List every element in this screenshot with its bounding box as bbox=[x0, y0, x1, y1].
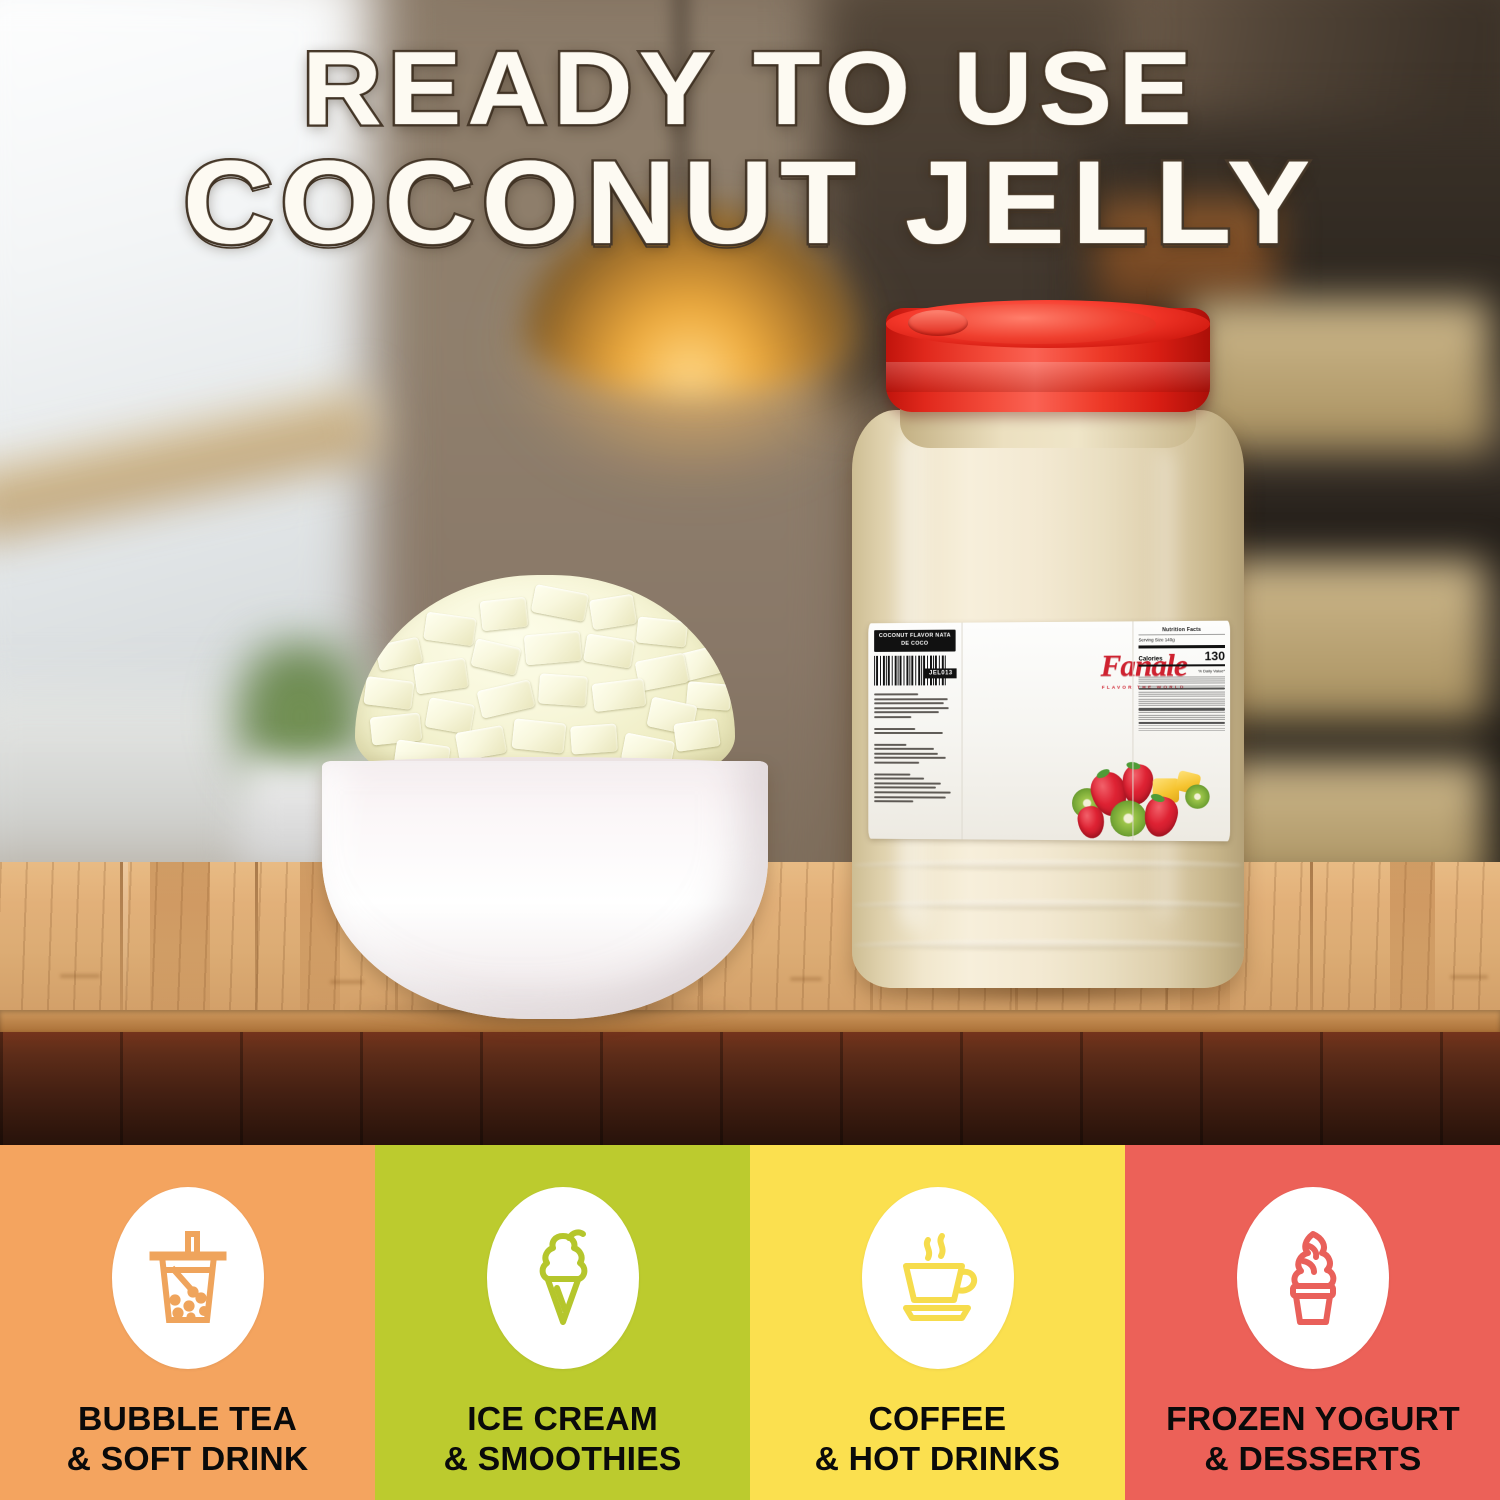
nutrition-title: Nutrition Facts bbox=[1139, 627, 1225, 634]
headline-line-2: COCONUT JELLY bbox=[0, 145, 1500, 262]
ingredients-text bbox=[874, 693, 955, 803]
jar-lid-band bbox=[886, 362, 1210, 392]
serving-size-row: Serving Size 140g bbox=[1139, 636, 1225, 643]
product-label: COCONUT FLAVOR NATA DE COCO JEL013 bbox=[868, 621, 1230, 842]
jar-lid-spout bbox=[908, 310, 968, 336]
feature-label: COFFEE & HOT DRINKS bbox=[815, 1399, 1061, 1480]
ice-cream-cone-icon bbox=[517, 1226, 609, 1330]
use-case-bar: BUBBLE TEA & SOFT DRINK ICE CREAM & SMOO… bbox=[0, 1145, 1500, 1500]
headline: READY TO USE COCONUT JELLY bbox=[0, 38, 1500, 262]
product-marketing-image: COCONUT FLAVOR NATA DE COCO JEL013 bbox=[0, 0, 1500, 1500]
feature-label: FROZEN YOGURT & DESSERTS bbox=[1166, 1399, 1460, 1480]
icon-badge bbox=[487, 1187, 639, 1369]
feature-panel-ice-cream[interactable]: ICE CREAM & SMOOTHIES bbox=[375, 1145, 750, 1500]
label-center-column: Fanale FLAVOR THE WORLD bbox=[963, 621, 1133, 840]
icon-badge bbox=[1237, 1187, 1389, 1369]
feature-label: ICE CREAM & SMOOTHIES bbox=[444, 1399, 682, 1480]
sku-code: JEL013 bbox=[925, 668, 957, 678]
bowl-of-coconut-jelly bbox=[300, 575, 790, 1020]
feature-panel-frozen-yogurt[interactable]: FROZEN YOGURT & DESSERTS bbox=[1125, 1145, 1500, 1500]
coffee-cup-icon bbox=[888, 1226, 988, 1330]
headline-line-1: READY TO USE bbox=[0, 38, 1500, 141]
feature-panel-coffee[interactable]: COFFEE & HOT DRINKS bbox=[750, 1145, 1125, 1500]
product-jar: COCONUT FLAVOR NATA DE COCO JEL013 bbox=[838, 300, 1258, 1000]
feature-panel-bubble-tea[interactable]: BUBBLE TEA & SOFT DRINK bbox=[0, 1145, 375, 1500]
nutrition-facts-panel: Nutrition Facts Serving Size 140g Calori… bbox=[1132, 621, 1230, 842]
boba-cup-icon bbox=[142, 1226, 234, 1330]
table-apron-shading bbox=[0, 1032, 1500, 1155]
calories-row: Calories 130 bbox=[1139, 650, 1225, 663]
icon-badge bbox=[112, 1187, 264, 1369]
label-left-column: COCONUT FLAVOR NATA DE COCO JEL013 bbox=[868, 623, 962, 840]
froyo-cup-icon bbox=[1267, 1226, 1359, 1330]
flavor-name-box: COCONUT FLAVOR NATA DE COCO bbox=[874, 630, 955, 652]
icon-badge bbox=[862, 1187, 1014, 1369]
feature-label: BUBBLE TEA & SOFT DRINK bbox=[67, 1399, 309, 1480]
bowl bbox=[322, 761, 768, 1019]
